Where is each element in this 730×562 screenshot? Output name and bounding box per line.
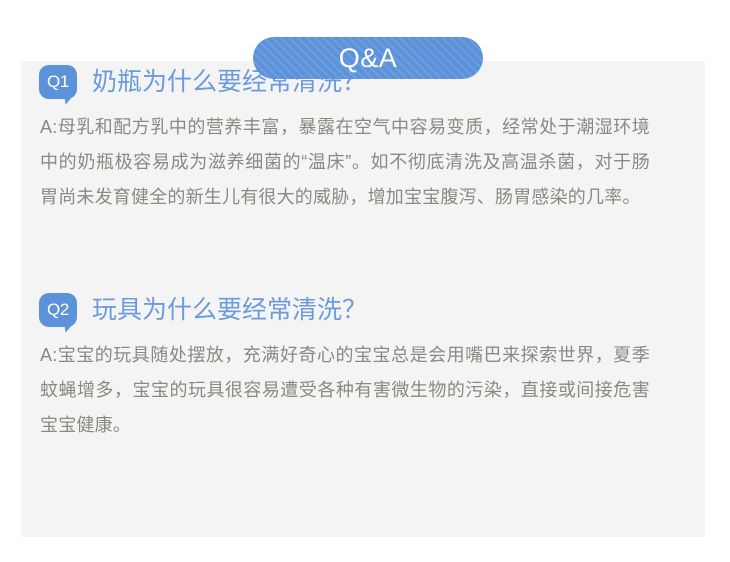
question-badge-icon: Q1: [39, 65, 77, 99]
qa-item-q2: Q2 玩具为什么要经常清洗？ A:宝宝的玩具随处摆放，充满好奇心的宝宝总是会用嘴…: [0, 290, 684, 443]
answer-text: A:母乳和配方乳中的营养丰富，暴露在空气中容易变质，经常处于潮湿环境中的奶瓶极容…: [0, 110, 684, 215]
qa-header-label: Q&A: [339, 45, 398, 72]
qa-question-header: Q2 玩具为什么要经常清洗？: [0, 290, 684, 330]
qa-item-q1: Q1 奶瓶为什么要经常清洗？ A:母乳和配方乳中的营养丰富，暴露在空气中容易变质…: [0, 62, 684, 215]
qa-header-pill: Q&A: [253, 37, 483, 79]
question-badge-label: Q2: [47, 301, 69, 318]
question-badge-label: Q1: [47, 73, 69, 90]
question-badge-icon: Q2: [39, 293, 77, 327]
answer-text: A:宝宝的玩具随处摆放，充满好奇心的宝宝总是会用嘴巴来探索世界，夏季蚊蝇增多，宝…: [0, 338, 684, 443]
question-title: 玩具为什么要经常清洗？: [92, 298, 367, 323]
